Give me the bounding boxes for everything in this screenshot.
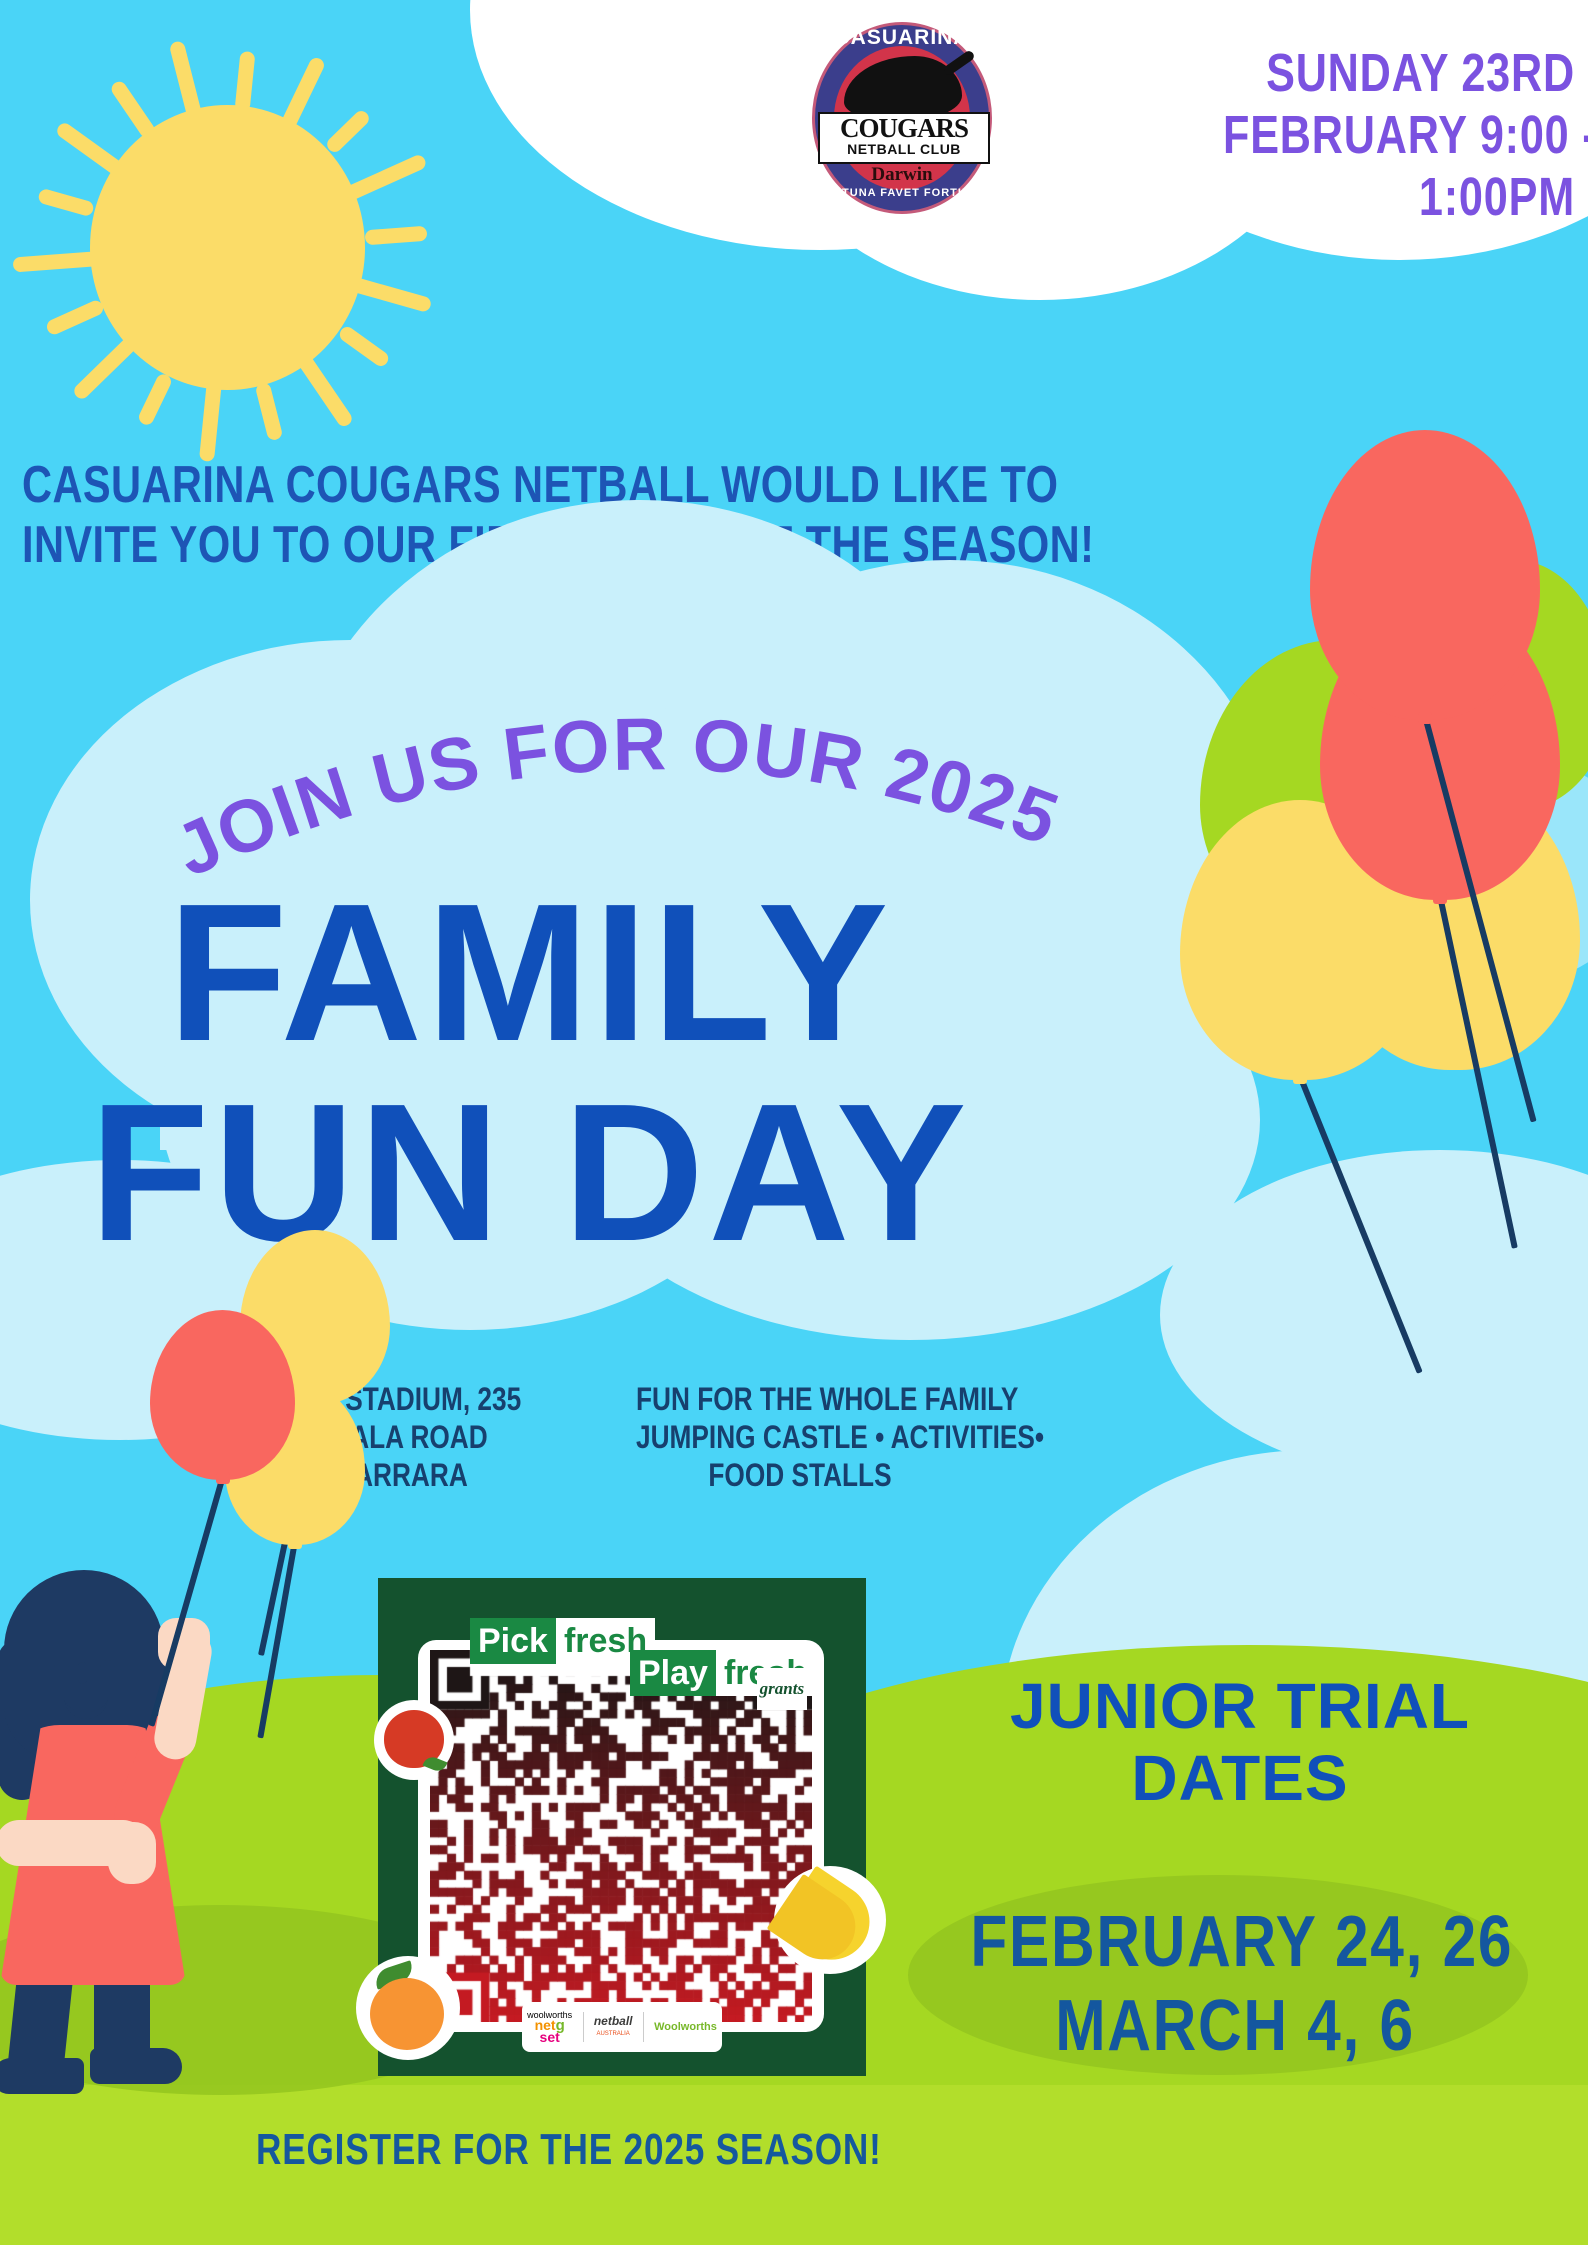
girl-illustration (0, 1570, 250, 2070)
activities-line2: JUMPING CASTLE • ACTIVITIES• (636, 1418, 964, 1456)
qr-promo-card[interactable]: Pick fresh Play fresh grants woolworths … (378, 1578, 866, 2076)
activities-line1: FUN FOR THE WHOLE FAMILY (636, 1380, 964, 1418)
logo-arc-text: CASUARINA (812, 26, 992, 50)
nsg-line3: set (540, 2029, 560, 2045)
junior-trials-heading: JUNIOR TRIAL DATES (960, 1670, 1520, 1814)
logo-divider (643, 2012, 644, 2042)
girl-hand (108, 1822, 156, 1884)
event-date-line1: SUNDAY 23RD (1223, 42, 1575, 104)
junior-trials-line1: JUNIOR TRIAL (960, 1670, 1520, 1742)
net-set-go-logo: woolworths netg set (527, 2010, 572, 2044)
pick-fresh-badge: Pick fresh (470, 1618, 655, 1664)
apple-icon (374, 1700, 454, 1780)
junior-trials-date1: FEBRUARY 24, 26 (970, 1900, 1499, 1984)
event-date-block: SUNDAY 23RD FEBRUARY 9:00 - 1:00PM (1135, 42, 1575, 228)
balloon-knot (1418, 712, 1432, 724)
netball-sub: AUSTRALIA (596, 2031, 629, 2037)
logo-name-band: COUGARS NETBALL CLUB (818, 112, 990, 164)
balloon-knot (308, 1397, 322, 1409)
balloon-knot (1293, 1072, 1307, 1084)
register-cta-label: REGISTER FOR THE 2025 SEASON! (256, 2125, 864, 2175)
activities-block: FUN FOR THE WHOLE FAMILY JUMPING CASTLE … (600, 1380, 1000, 1494)
banana-icon (774, 1866, 886, 1974)
balloon-knot (216, 1472, 230, 1484)
logo-band-line2: NETBALL CLUB (820, 142, 988, 157)
club-logo: CASUARINA COUGARS NETBALL CLUB Darwin FO… (812, 22, 992, 214)
girl-eye (54, 1660, 69, 1677)
badge-grants-label: grants (757, 1668, 807, 1710)
junior-trials-dates: FEBRUARY 24, 26 MARCH 4, 6 (920, 1900, 1550, 2068)
balloon-knot (288, 1537, 302, 1549)
junior-trials-line2: DATES (960, 1742, 1520, 1814)
badge-pick-label: Pick (470, 1618, 556, 1664)
balloon-knot (1433, 892, 1447, 904)
sponsor-logo-strip: woolworths netg set netball AUSTRALIA Wo… (522, 2002, 722, 2052)
girl-shoe (90, 2048, 182, 2084)
title-line-1: FAMILY (0, 880, 1060, 1066)
logo-city: Darwin (812, 164, 992, 186)
arc-headline: JOIN US FOR OUR 2025 (180, 700, 1040, 890)
logo-band-line1: COUGARS (820, 114, 988, 142)
girl-eye (100, 1660, 115, 1677)
event-date-line3: 1:00PM (1223, 166, 1575, 228)
play-fresh-badge: Play fresh grants (630, 1650, 815, 1696)
badge-play-label: Play (630, 1650, 716, 1696)
badge-fresh2-label: fresh grants (716, 1650, 815, 1696)
event-date-line2: FEBRUARY 9:00 - (1223, 104, 1575, 166)
logo-motto: FORTUNA FAVET FORTIBUS (812, 187, 992, 199)
activities-line3: FOOD STALLS (636, 1456, 964, 1494)
netball-label: netball (594, 2014, 633, 2028)
girl-shoe (0, 2058, 84, 2094)
qr-code[interactable] (430, 1650, 812, 2022)
netball-australia-logo: netball AUSTRALIA (594, 2016, 633, 2039)
orange-icon (356, 1956, 460, 2060)
logo-divider (583, 2012, 584, 2042)
register-cta[interactable]: REGISTER FOR THE 2025 SEASON! (180, 2125, 940, 2175)
woolworths-label: Woolworths (654, 2021, 717, 2033)
girl-nose (78, 1662, 87, 1684)
title-line-2: FUN DAY (0, 1080, 1060, 1266)
woolworths-logo: Woolworths (654, 2022, 717, 2032)
poster-canvas: CASUARINA COUGARS NETBALL CLUB Darwin FO… (0, 0, 1588, 2245)
junior-trials-date2: MARCH 4, 6 (970, 1984, 1499, 2068)
